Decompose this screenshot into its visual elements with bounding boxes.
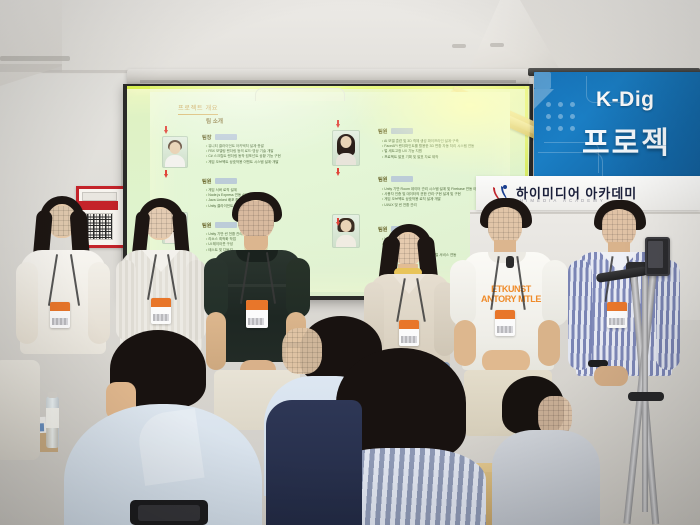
forearm xyxy=(454,320,476,366)
sleeve xyxy=(542,260,568,326)
left-soffit-shadow xyxy=(0,64,62,72)
collar xyxy=(236,250,278,262)
arm xyxy=(88,262,110,344)
role-text: 팀원 xyxy=(378,227,388,233)
screen-housing-slot xyxy=(140,80,516,83)
name-badge xyxy=(607,302,627,328)
clasped-hands xyxy=(482,350,530,372)
face-blur xyxy=(488,208,522,242)
qr-code-icon xyxy=(86,213,113,240)
ceiling-vent-icon xyxy=(490,43,504,47)
sleeve xyxy=(656,260,680,370)
lanyard-clip xyxy=(506,256,514,268)
sleeve xyxy=(286,258,310,318)
arm xyxy=(16,262,38,344)
shirt xyxy=(492,430,600,525)
slide-tab-shape xyxy=(255,88,345,101)
tshirt-graphic-text: ETKUNST ANTORY MTLE xyxy=(476,284,546,304)
navy-jacket xyxy=(266,400,362,525)
arm xyxy=(186,260,206,340)
banner-line1: K-Dig xyxy=(596,88,655,112)
chip-square-icon xyxy=(534,72,551,89)
photo-scene: 프로젝트 개요 팀 소개 팀장 유니티 클라이언트 아키텍처 설계·총괄 FBX… xyxy=(0,0,700,525)
sleeve xyxy=(204,258,228,318)
forearm xyxy=(206,312,226,370)
name-badge xyxy=(246,300,268,328)
redacted-name xyxy=(215,222,237,228)
face-blur xyxy=(602,210,636,244)
name-badge xyxy=(151,298,171,324)
face-blur xyxy=(146,209,174,238)
role-text: 팀원 xyxy=(202,223,212,229)
tripod-brace xyxy=(628,392,664,401)
arrow-down-icon xyxy=(164,170,168,178)
ceiling-vent-icon xyxy=(452,44,466,48)
wall-rail xyxy=(0,56,70,61)
sleeve xyxy=(568,260,592,370)
phone-screen xyxy=(648,241,663,268)
triangle-icon xyxy=(534,89,554,109)
name-badge xyxy=(399,320,419,346)
academy-name-english: HIMEDIA ACADEMY xyxy=(520,198,606,203)
sign-header-strip xyxy=(82,192,117,201)
sleeve xyxy=(450,260,476,326)
arrow-down-icon xyxy=(336,218,340,226)
name-badge xyxy=(50,302,70,328)
role-label: 팀원 xyxy=(202,178,237,185)
role-text: 팀원 xyxy=(202,179,212,185)
role-label: 팀원 xyxy=(202,222,237,229)
face-blur xyxy=(238,201,274,237)
banner-line2: 프로젝 xyxy=(582,118,671,162)
partial-figure xyxy=(0,360,40,460)
device-screen xyxy=(138,505,200,521)
bottle-cap xyxy=(48,392,57,398)
redacted-name xyxy=(215,178,237,184)
hand xyxy=(594,366,628,386)
name-badge xyxy=(495,310,515,336)
bottle-label xyxy=(46,408,59,428)
arm xyxy=(116,260,136,340)
face-blur xyxy=(282,328,322,374)
sign-red-band xyxy=(79,201,118,210)
forearm xyxy=(538,320,560,366)
event-banner: K-Dig 프로젝 xyxy=(534,72,700,176)
